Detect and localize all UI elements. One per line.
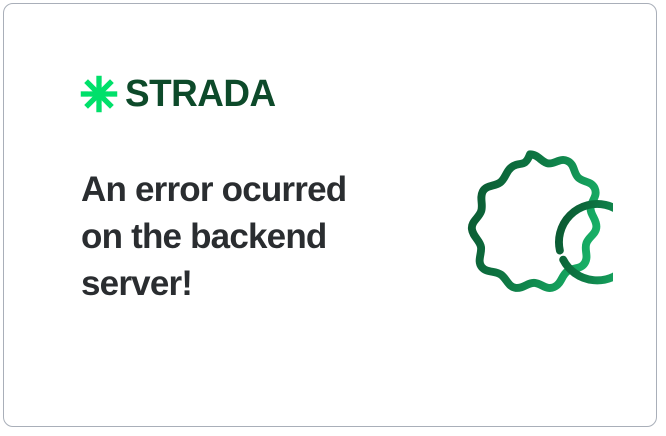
brand-wordmark: STRADA [125, 75, 276, 113]
gear-error-icon [447, 141, 613, 307]
error-headline: An error ocurred on the backend server! [81, 167, 381, 308]
error-card: STRADA An error ocurred on the backend s… [3, 3, 657, 427]
brand-lockup: STRADA [80, 72, 280, 116]
strada-asterisk-icon [80, 75, 118, 113]
